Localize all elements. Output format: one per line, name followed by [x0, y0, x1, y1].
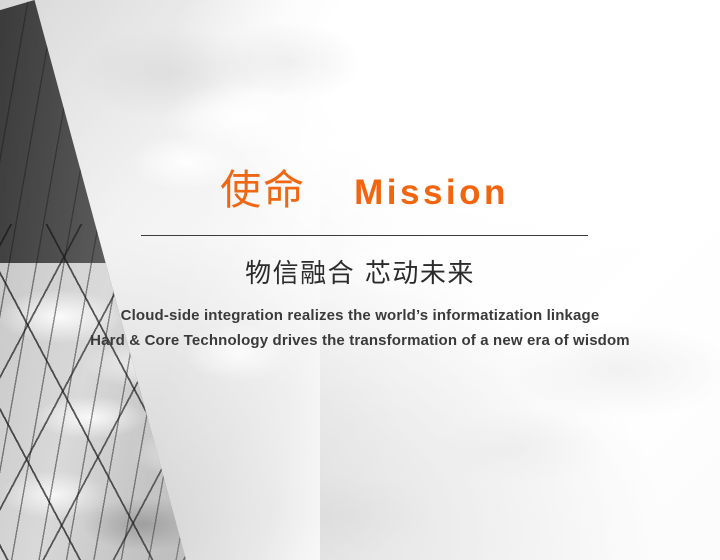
tagline-line-1: Cloud-side integration realizes the worl… — [0, 303, 720, 328]
tagline-block: Cloud-side integration realizes the worl… — [0, 303, 720, 353]
mission-banner: 使命 Mission 物信融合 芯动未来 Cloud-side integrat… — [0, 0, 720, 560]
page-title: 使命 Mission — [141, 170, 588, 228]
page-title-english: Mission — [354, 175, 509, 210]
title-divider-rule — [141, 235, 588, 236]
tagline-line-2: Hard & Core Technology drives the transf… — [0, 328, 720, 353]
subtitle-slogan: 物信融合 芯动未来 — [0, 258, 720, 290]
banner-content: 使命 Mission 物信融合 芯动未来 Cloud-side integrat… — [0, 0, 720, 560]
page-title-chinese: 使命 — [220, 170, 306, 211]
